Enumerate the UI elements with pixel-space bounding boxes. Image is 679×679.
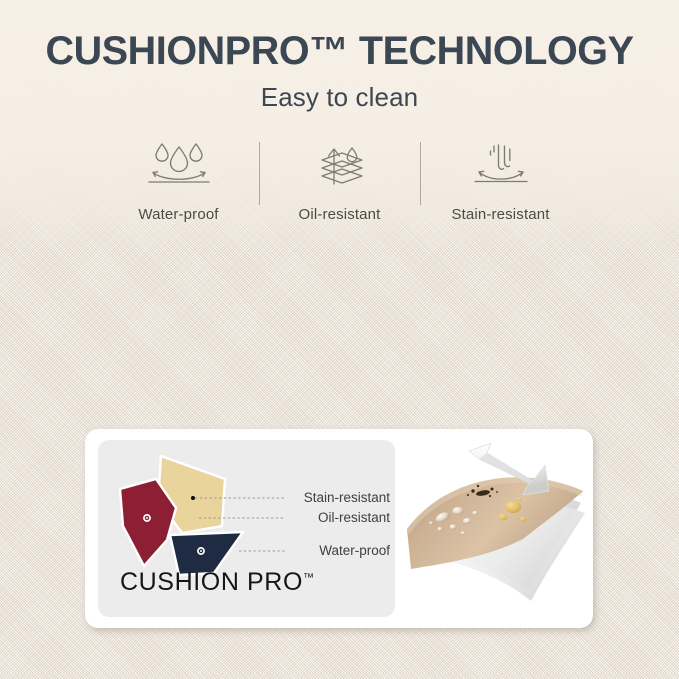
- swatch-label: Oil-resistant: [318, 510, 390, 525]
- feature-label: Water-proof: [138, 206, 218, 223]
- feature-oil-resistant: Oil-resistant: [260, 138, 420, 223]
- splash-repel-surface-icon: [465, 138, 537, 190]
- feature-list: Water-proof Oil-resistant: [0, 138, 679, 223]
- cushion-pro-logo: CUSHION PRO™: [120, 568, 314, 597]
- feature-divider: [259, 142, 260, 205]
- stacked-layers-arrow-droplet-icon: [304, 138, 376, 190]
- swatch-label: Stain-resistant: [304, 490, 391, 505]
- product-illustration: [395, 429, 593, 628]
- trademark-symbol: ™: [303, 572, 314, 584]
- swatch-label: Water-proof: [319, 543, 390, 558]
- feature-stain-resistant: Stain-resistant: [421, 138, 581, 223]
- logo-word: CUSHION PRO: [120, 568, 303, 596]
- feature-label: Stain-resistant: [451, 206, 549, 223]
- water-droplets-repel-icon: [143, 138, 215, 190]
- info-card: Stain-resistant Oil-resistant Water-proo…: [85, 429, 593, 628]
- page-subtitle: Easy to clean: [0, 73, 679, 113]
- feature-water-proof: Water-proof: [99, 138, 259, 223]
- header: CUSHIONPRO™ TECHNOLOGY Easy to clean: [0, 0, 679, 113]
- swatch-panel: Stain-resistant Oil-resistant Water-proo…: [98, 440, 395, 617]
- feature-label: Oil-resistant: [299, 206, 381, 223]
- page-title: CUSHIONPRO™ TECHNOLOGY: [0, 0, 679, 73]
- feature-divider: [420, 142, 421, 205]
